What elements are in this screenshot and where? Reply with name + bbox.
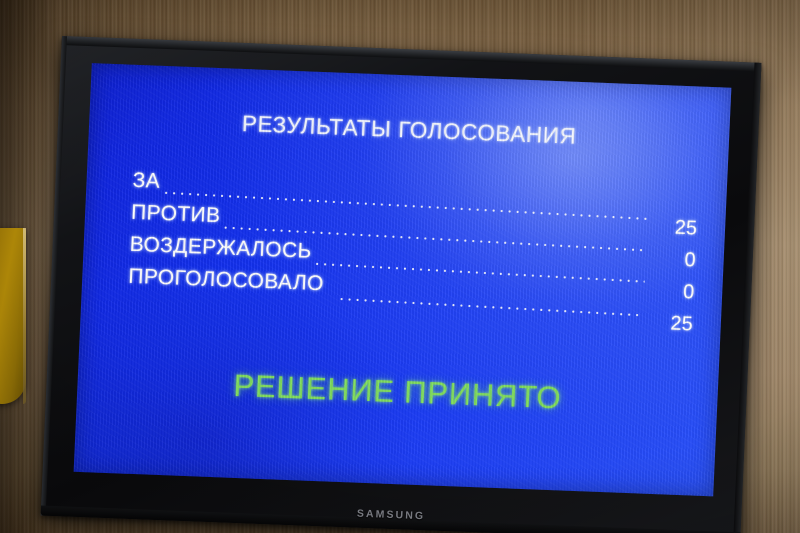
photo-scene: SAMSUNG РЕЗУЛЬТАТЫ ГОЛОСОВАНИЯ ЗА 25 ПРО…: [0, 0, 800, 533]
photo-vignette: [0, 0, 800, 533]
